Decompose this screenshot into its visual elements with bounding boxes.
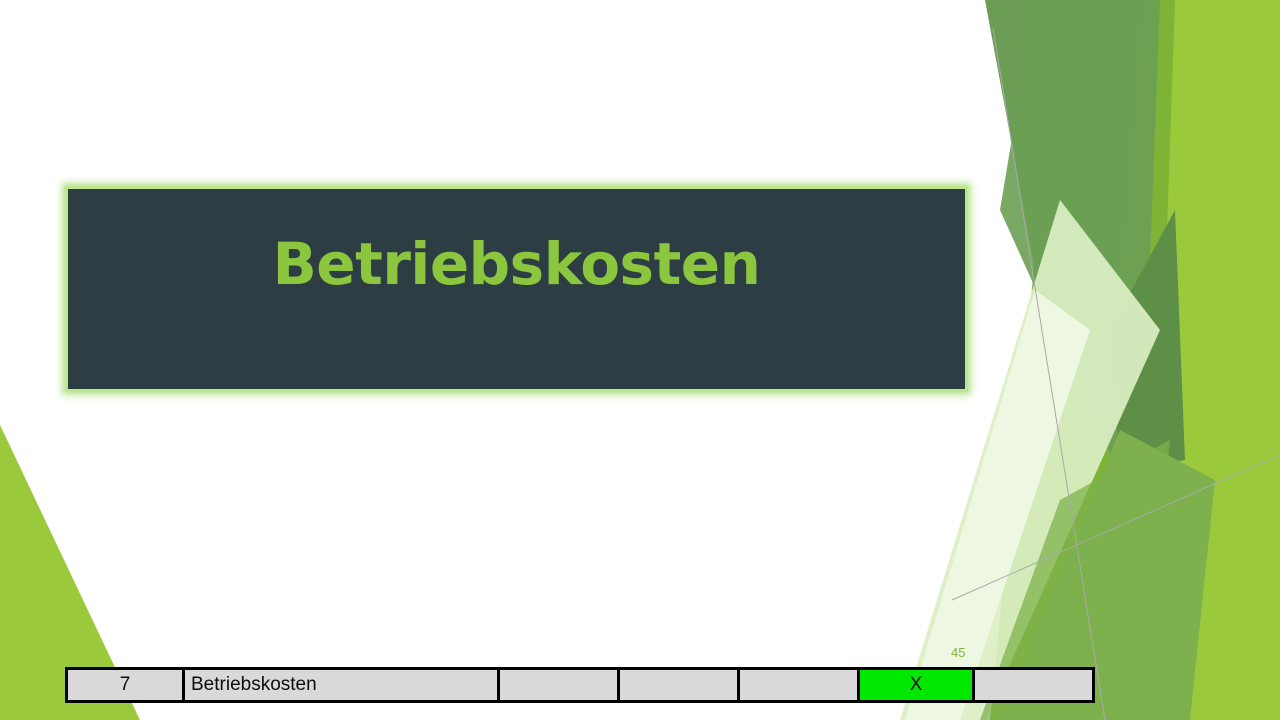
deco-poly-dark-v2 xyxy=(1000,0,1160,520)
table-cell-number[interactable]: 7 xyxy=(67,669,184,702)
status-table[interactable]: 7 Betriebskosten X xyxy=(65,667,1095,703)
deco-poly-bright-right xyxy=(1060,0,1280,720)
presentation-slide: Betriebskosten 45 7 Betriebskosten X xyxy=(0,0,1280,720)
table-cell-blank-2[interactable] xyxy=(619,669,739,702)
table-cell-blank-3[interactable] xyxy=(739,669,859,702)
title-box[interactable]: Betriebskosten xyxy=(65,186,968,392)
table-cell-blank-4[interactable] xyxy=(974,669,1094,702)
table-cell-name[interactable]: Betriebskosten xyxy=(184,669,499,702)
deco-poly-mid-bright xyxy=(990,0,1175,720)
deco-poly-dark-v xyxy=(985,0,1145,430)
deco-hairline-1 xyxy=(993,28,1105,720)
table-row: 7 Betriebskosten X xyxy=(67,669,1094,702)
deco-poly-deep xyxy=(1110,210,1185,470)
table-cell-highlighted[interactable]: X xyxy=(859,669,974,702)
page-title: Betriebskosten xyxy=(273,235,761,293)
slide-number: 45 xyxy=(951,645,965,660)
table-cell-blank-1[interactable] xyxy=(499,669,619,702)
deco-hairline-2 xyxy=(952,455,1280,600)
